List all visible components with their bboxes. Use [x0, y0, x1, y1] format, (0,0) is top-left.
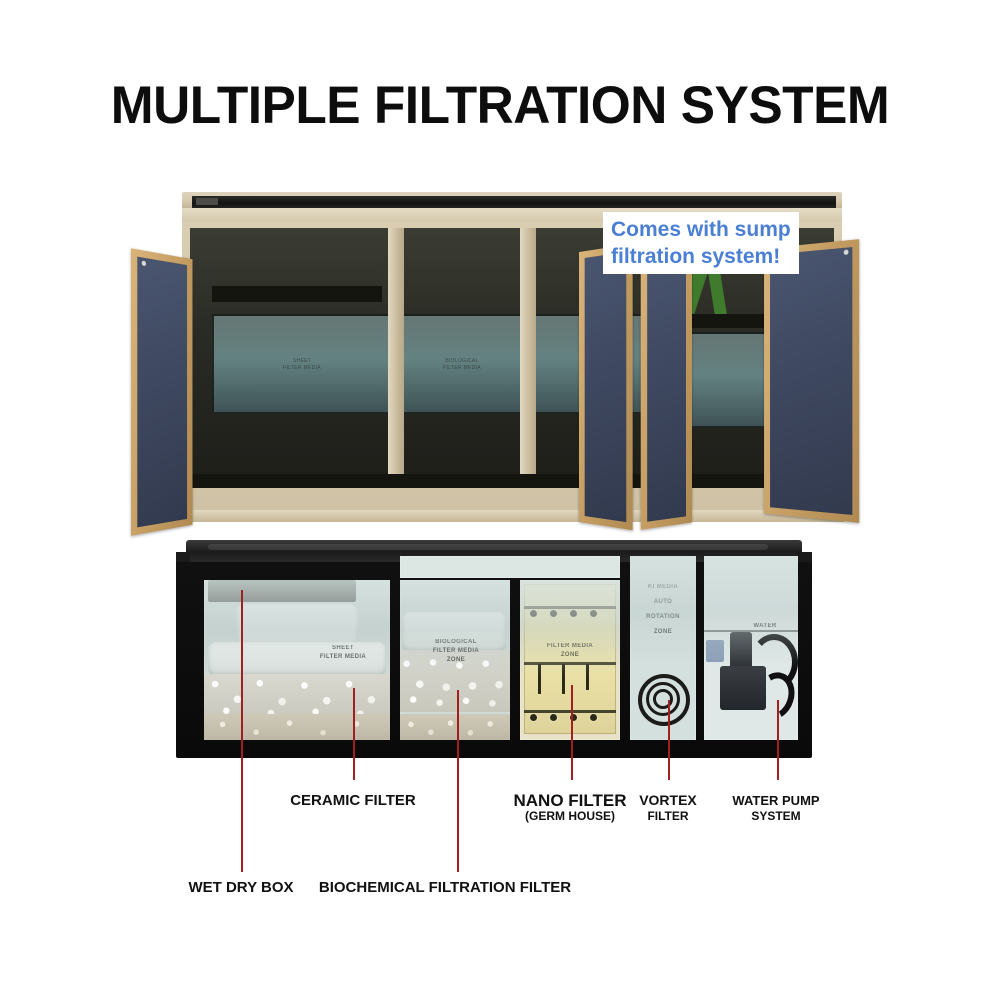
leader-line-vortex-filter [668, 700, 670, 780]
nano-hole-icon [550, 714, 557, 721]
equipment-shelf [212, 286, 382, 302]
label-vortex-filter: VORTEX FILTER [613, 792, 723, 824]
label-water-pump-system: WATER PUMP SYSTEM [711, 792, 841, 824]
label-vortex-filter-text: VORTEX [639, 792, 697, 808]
label-ceramic-filter: CERAMIC FILTER [253, 792, 453, 809]
chamber-biological-text: BIOLOGICALFILTER MEDIAZONE [414, 638, 498, 665]
cabinet-door-far-right[interactable] [764, 239, 859, 523]
callout-line-1: Comes with sump [611, 216, 791, 243]
door-glass-panel [647, 246, 686, 521]
callout-line-2: filtration system! [611, 243, 791, 270]
nano-hole-icon [530, 610, 537, 617]
inner-tank-left-text: SHEETFILTER MEDIA [283, 358, 321, 372]
cabinet-stile-2 [520, 228, 536, 488]
nano-row-3 [524, 710, 616, 713]
sump-tank-photo: SHEETFILTER MEDIA BIOLOGICALFILTER MEDIA… [176, 540, 812, 762]
ceramic-ring-bed [204, 714, 390, 740]
label-ceramic-filter-text: CERAMIC FILTER [290, 792, 416, 809]
label-biochemical-filtration-filter: BIOCHEMICAL FILTRATION FILTER [295, 879, 595, 896]
nano-post [586, 664, 589, 690]
label-water-pump-system-sub: SYSTEM [711, 809, 841, 824]
chamber-biological: BIOLOGICALFILTER MEDIAZONE [400, 580, 510, 740]
cabinet-door-center-left[interactable] [579, 244, 633, 531]
ceramic-ring-bed [400, 714, 510, 740]
black-hose-icon [232, 228, 332, 292]
vortex-ring-inner-icon [653, 689, 673, 709]
nano-filter-block: FILTER MEDIAZONE [524, 584, 616, 734]
cabinet-bottom-inner-rail [190, 474, 834, 488]
chamber-overflow-window [400, 556, 620, 578]
cabinet-top-black-band [192, 196, 836, 208]
chamber-pump: WATER [704, 556, 798, 740]
label-biochemical-filtration-filter-text: BIOCHEMICAL FILTRATION FILTER [319, 879, 571, 896]
leader-line-water-pump-system [777, 700, 779, 780]
label-wet-dry-box-text: WET DRY BOX [188, 879, 293, 896]
chamber-nano-text: FILTER MEDIAZONE [530, 642, 610, 660]
inner-tank-center-left-text: BIOLOGICALFILTER MEDIA [443, 358, 481, 372]
nano-hole-icon [530, 714, 537, 721]
nano-row-1 [524, 606, 616, 609]
chamber-vortex: KI MEDIAAUTOROTATIONZONE [630, 556, 696, 740]
inner-tank-left: SHEETFILTER MEDIA [212, 314, 392, 414]
cabinet-plinth [180, 510, 844, 522]
chamber-wet-dry: SHEETFILTER MEDIA [204, 580, 390, 740]
chamber-pump-text: WATER [740, 622, 790, 631]
leader-line-nano-filter [571, 685, 573, 780]
label-nano-filter-text: NANO FILTER [513, 791, 626, 810]
leader-line-wet-dry-box [241, 590, 243, 872]
chamber-vortex-text: KI MEDIAAUTOROTATIONZONE [634, 580, 692, 640]
label-vortex-filter-sub: FILTER [613, 809, 723, 824]
nano-hole-icon [590, 714, 597, 721]
wet-dry-inlet-box [208, 580, 356, 602]
inner-tank-center-left: BIOLOGICALFILTER MEDIA [400, 314, 524, 414]
nano-hole-icon [550, 610, 557, 617]
infographic-page: MULTIPLE FILTRATION SYSTEM SHEETFILTER M… [0, 0, 1000, 1000]
label-water-pump-system-text: WATER PUMP [732, 793, 819, 808]
leader-line-biochemical-filtration-filter [457, 690, 459, 872]
sump-frame: SHEETFILTER MEDIA BIOLOGICALFILTER MEDIA… [176, 562, 812, 758]
cabinet-door-far-left[interactable] [131, 248, 192, 535]
pump-blue-fitting [706, 640, 724, 662]
nano-post [562, 664, 565, 694]
door-glass-panel [770, 247, 852, 515]
nano-hole-icon [570, 610, 577, 617]
cabinet-stile-1 [388, 228, 404, 488]
nano-post [538, 664, 541, 694]
door-knob-icon [142, 260, 146, 266]
nano-hole-icon [590, 610, 597, 617]
door-glass-panel [585, 252, 627, 522]
chamber-wet-dry-text: SHEETFILTER MEDIA [300, 644, 386, 662]
leader-line-ceramic-filter [353, 688, 355, 780]
sump-callout-box: Comes with sump filtration system! [603, 212, 799, 274]
cabinet-door-center-right[interactable] [641, 238, 692, 530]
chamber-nano: FILTER MEDIAZONE [520, 580, 620, 740]
page-title: MULTIPLE FILTRATION SYSTEM [15, 78, 985, 134]
door-glass-panel [137, 257, 187, 528]
